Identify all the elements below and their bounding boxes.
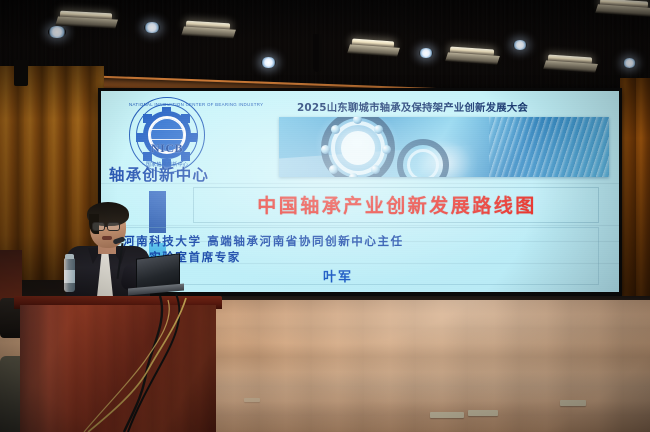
bearing-ball: [329, 165, 338, 174]
bearing-ring-secondary-inner: [407, 149, 439, 177]
glasses-bridge: [105, 226, 108, 227]
stage-cables: [0, 292, 250, 432]
floor-reflection: [180, 300, 650, 432]
bearing-ball: [331, 125, 340, 134]
logo-acronym: NICB: [129, 141, 205, 156]
photo-streak: [489, 117, 609, 177]
glasses-icon: [107, 222, 120, 231]
bearing-ball: [349, 173, 358, 177]
logo-caption: 轴承创新中心: [103, 163, 215, 185]
bottle-label: [64, 270, 75, 283]
gear-tooth: [162, 107, 171, 116]
gear-tooth: [181, 114, 190, 123]
bearing-ball: [374, 125, 383, 134]
spotlight: [513, 40, 527, 50]
stage-bar-light: [600, 0, 648, 9]
stage-bar-light: [186, 21, 230, 31]
bearing-ball: [382, 145, 391, 154]
gear-tooth: [143, 114, 152, 123]
glasses-icon: [92, 222, 105, 231]
bearing-ball: [321, 145, 330, 154]
affiliation-line-1: 河南科技大学 高端轴承河南省协同创新中心主任: [123, 233, 404, 249]
stage-scene: NATIONAL INNOVATION CENTER OF BEARING IN…: [0, 0, 650, 432]
spotlight: [261, 57, 276, 68]
conference-title: 2025山东聊城市轴承及保持架产业创新发展大会: [297, 99, 613, 114]
light-mount: [313, 34, 322, 72]
floor-marker: [560, 400, 586, 406]
slide-main-title: 中国轴承产业创新发展路线图: [201, 191, 593, 218]
bearing-ball: [371, 165, 380, 174]
spotlight: [48, 26, 66, 38]
spotlight: [623, 58, 636, 68]
bearing-ring-inner: [341, 131, 375, 165]
stage-curtain-right: [620, 78, 650, 318]
ceiling-speaker-box: [14, 60, 28, 86]
spotlight: [419, 48, 433, 58]
floor-marker: [468, 410, 498, 416]
floor-marker: [430, 412, 464, 418]
bearing-photo: [279, 117, 609, 177]
spotlight: [144, 22, 160, 33]
stage-bar-light: [60, 11, 112, 21]
slide-rule: [101, 225, 619, 226]
speaker-name: 叶军: [323, 266, 353, 285]
bottle-cap: [65, 254, 74, 259]
presenter-mouth: [102, 236, 112, 240]
